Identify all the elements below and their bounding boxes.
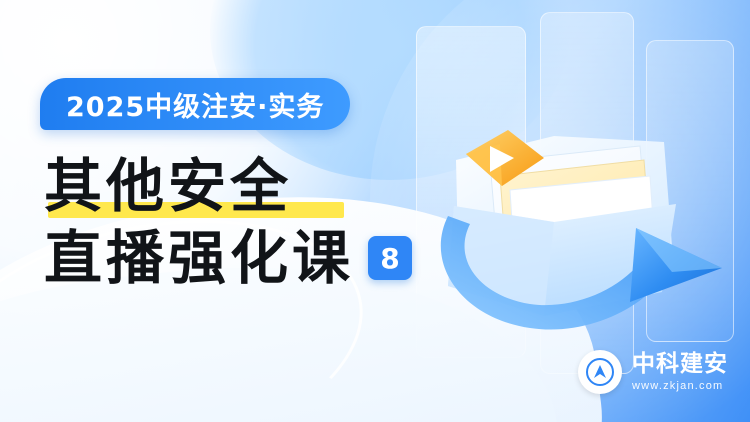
headline-group: 其他安全 直播强化课 8 (44, 150, 484, 294)
brand-text: 中科建安 www.zkjan.com (632, 353, 728, 392)
course-banner: 2025中级注安·实务 其他安全 直播强化课 8 中科建安 www.zkjan.… (0, 0, 750, 422)
compass-icon (578, 350, 622, 394)
headline-line-2: 直播强化课 8 (44, 222, 484, 294)
headline-line-2-text: 直播强化课 (44, 222, 354, 294)
headline-line-1: 其他安全 (44, 150, 484, 222)
brand-logo: 中科建安 www.zkjan.com (578, 350, 728, 394)
episode-badge: 8 (368, 236, 412, 280)
compass-icon-svg (585, 357, 615, 387)
headline-line-1-text: 其他安全 (44, 150, 292, 222)
course-tag-label: 2025中级注安·实务 (66, 85, 324, 124)
brand-name: 中科建安 (632, 353, 728, 376)
brand-url: www.zkjan.com (632, 381, 728, 392)
course-tag: 2025中级注安·实务 (40, 78, 350, 130)
